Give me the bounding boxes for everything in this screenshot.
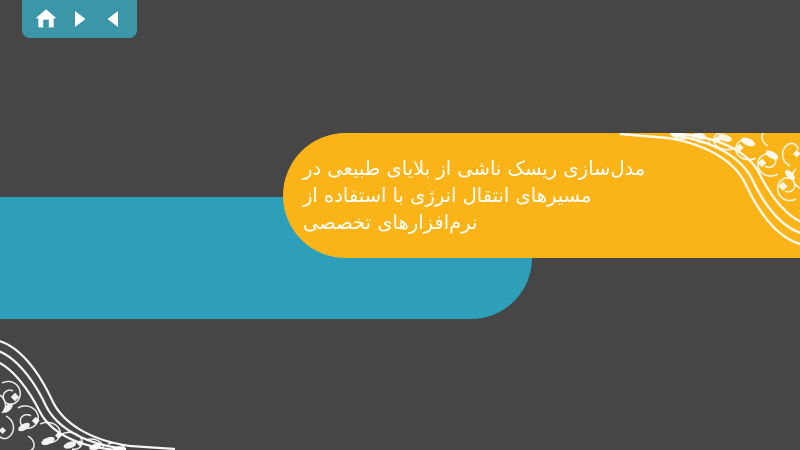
title-line-3: نرم‌افزارهای تخصصی: [303, 209, 477, 236]
forward-button[interactable]: [66, 5, 94, 33]
forward-arrow-icon: [69, 8, 91, 30]
slide-navigation-bar: [22, 0, 137, 38]
left-arabesque-ornament: [0, 328, 175, 450]
back-arrow-icon: [102, 8, 124, 30]
title-line-1: مدل‌سازی ریسک ناشی از بلایای طبیعی در: [303, 155, 645, 182]
back-button[interactable]: [99, 5, 127, 33]
slide-title: مدل‌سازی ریسک ناشی از بلایای طبیعی در مس…: [283, 133, 793, 258]
home-button[interactable]: [32, 5, 60, 33]
presentation-slide: مدل‌سازی ریسک ناشی از بلایای طبیعی در مس…: [0, 0, 800, 450]
home-icon: [34, 7, 58, 31]
title-line-2: مسیرهای انتقال انرژی با استفاده از: [303, 182, 592, 209]
